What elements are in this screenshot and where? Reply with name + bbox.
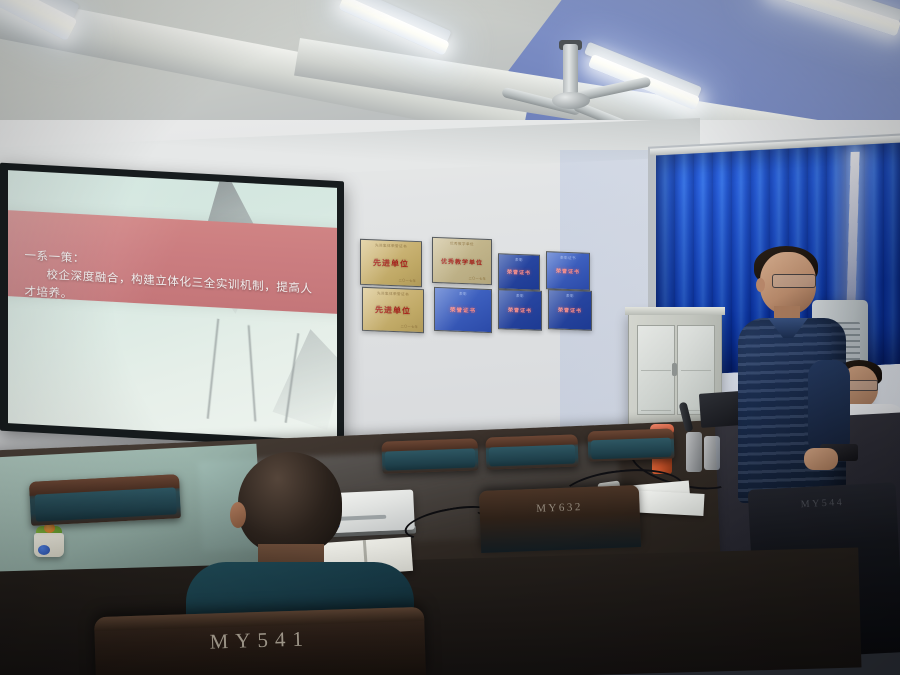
plaque-glare <box>547 252 589 290</box>
fan-icon <box>552 92 590 109</box>
cabinet-handle[interactable] <box>672 363 677 376</box>
plaque-glare <box>499 290 541 330</box>
cabinet-top <box>625 307 725 315</box>
presenter-ear <box>756 278 765 292</box>
chair[interactable] <box>381 438 478 473</box>
slide-title: 一系一策： <box>24 248 85 265</box>
wall-plaque: 表彰证书 荣誉证书 <box>546 251 590 291</box>
chair-label: MY544 <box>758 495 886 513</box>
projector-screen: 一系一策： 校企深度融合，构建立体化三全实训机制，提高人 才培养。 <box>0 163 344 450</box>
meeting-room-photo: 一系一策： 校企深度融合，构建立体化三全实训机制，提高人 才培养。 先进集体荣誉… <box>0 0 900 675</box>
presenter-arm <box>808 360 850 456</box>
plaque-glare <box>499 254 539 290</box>
slide-body-line-2: 才培养。 <box>24 284 72 301</box>
potted-plant-icon <box>38 545 50 555</box>
cabinet-pane <box>681 330 711 371</box>
plaque-glare <box>435 288 491 332</box>
cabinet-pane <box>641 370 671 411</box>
wall-plaque: 表彰 荣誉证书 <box>434 287 492 333</box>
slide-background-photo <box>225 313 337 431</box>
chair-label: MY632 <box>479 499 639 517</box>
chair[interactable] <box>29 474 181 526</box>
wall-plaque: 先进集体荣誉证书 先进单位 二〇一七年 <box>362 287 424 333</box>
slide-photo-leg <box>248 325 256 421</box>
fan-rod <box>563 44 578 96</box>
attendee-ear <box>230 502 246 528</box>
chair[interactable]: MY632 <box>479 485 641 553</box>
plaque-glare <box>363 288 423 332</box>
wall-plaque: 表彰 荣誉证书 <box>498 289 542 331</box>
chair-seatback <box>590 438 671 459</box>
cabinet-door-left[interactable] <box>637 325 675 415</box>
presenter-hand <box>804 448 838 470</box>
chair[interactable] <box>588 429 675 462</box>
chair[interactable]: MY541 <box>94 607 426 675</box>
plaque-glare <box>361 240 421 286</box>
chair-seatback <box>385 448 476 471</box>
wall-plaque: 先进集体荣誉证书 先进单位 二〇一七年 <box>360 239 422 287</box>
slide-photo-leg <box>207 318 219 418</box>
attendee-hair <box>238 452 342 554</box>
wall-plaque: 表彰 荣誉证书 <box>548 289 592 331</box>
plaque-glare <box>433 238 491 284</box>
chair[interactable] <box>485 434 578 469</box>
chair-seatback <box>489 444 576 467</box>
plaque-glare <box>549 290 591 330</box>
wall-plaque: 表彰 荣誉证书 <box>498 253 540 291</box>
presenter <box>742 252 852 502</box>
plant-pot <box>34 533 64 557</box>
cabinet-pane <box>641 330 671 371</box>
wall-plaque: 优秀教学单位 优秀教学单位 二〇一七年 <box>432 237 492 285</box>
glasses-icon <box>772 274 816 288</box>
screen-surface: 一系一策： 校企深度融合，构建立体化三全实训机制，提高人 才培养。 <box>8 170 337 441</box>
